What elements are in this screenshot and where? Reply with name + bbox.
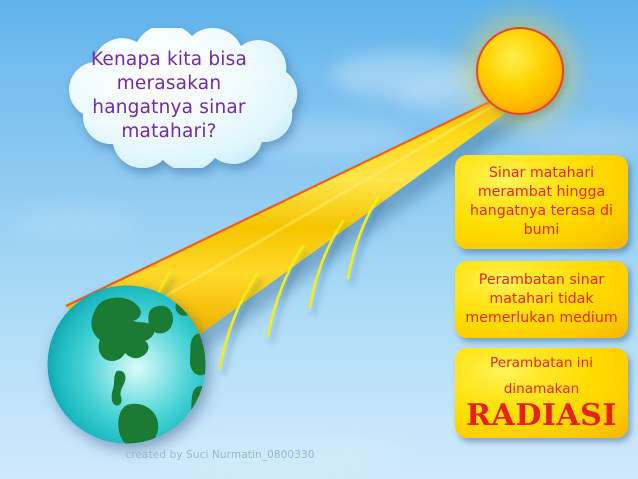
thought-cloud-text: Kenapa kita bisa merasakan hangatnya sin… — [63, 48, 275, 144]
callout-box-1: Sinar matahari merambat hingga hangatnya… — [455, 155, 628, 249]
background-cloud-icon — [330, 52, 480, 98]
earth-globe-icon — [45, 283, 208, 446]
callout-box-2: Perambatan sinar matahari tidak memerluk… — [455, 261, 628, 338]
thought-cloud: Kenapa kita bisa merasakan hangatnya sin… — [33, 28, 305, 168]
callout-box-3-line2: dinamakan — [504, 381, 580, 398]
callout-box-3-line1: Perambatan ini — [490, 355, 593, 372]
callout-box-2-text: Perambatan sinar matahari tidak memerluk… — [465, 271, 617, 328]
credit-text: created by Suci Nurmatin_0800330 — [0, 449, 440, 461]
background-cloud-icon — [520, 120, 638, 156]
sun-icon — [476, 27, 564, 115]
callout-box-3: Perambatan ini dinamakan RADIASI — [455, 348, 628, 438]
slide-canvas: Kenapa kita bisa merasakan hangatnya sin… — [0, 0, 638, 479]
callout-box-3-keyword: RADIASI — [466, 400, 617, 432]
callout-box-1-text: Sinar matahari merambat hingga hangatnya… — [470, 164, 613, 240]
background-cloud-icon — [10, 205, 140, 239]
